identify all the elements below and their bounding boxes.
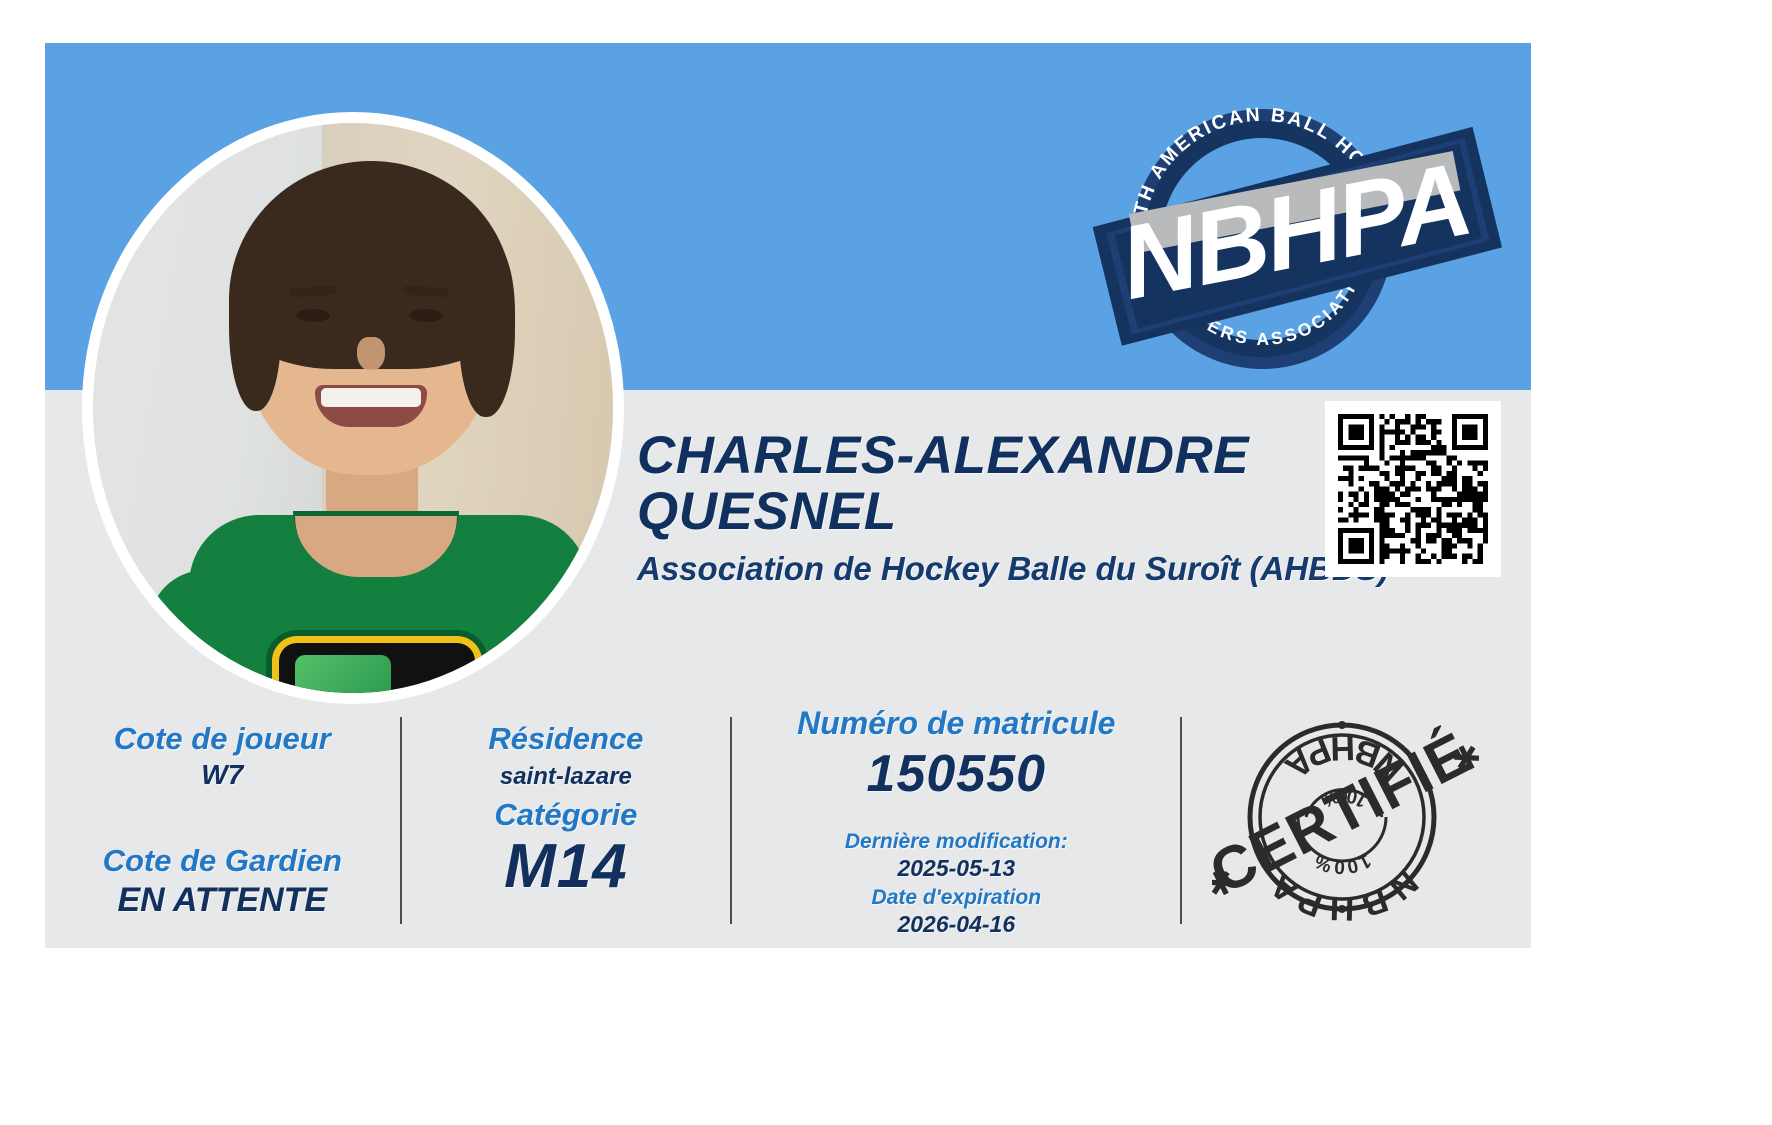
last-modified-value: 2025-05-13 [897,855,1015,882]
card-details-row: Cote de joueur W7 Cote de Gardien EN ATT… [45,683,1531,948]
matricule-column: Numéro de matricule 150550 Dernière modi… [732,683,1180,948]
matricule-value: 150550 [867,744,1047,804]
certification-column: NBHPA NBHPA 100% 100% CERT [1182,683,1531,948]
last-modified-label: Dernière modification: [845,830,1068,854]
player-photo: OVALTE [93,123,613,693]
ratings-column: Cote de joueur W7 Cote de Gardien EN ATT… [45,683,400,948]
category-label: Catégorie [494,797,637,833]
expiry-value: 2026-04-16 [897,911,1015,938]
nbhpa-crest-icon: NORTH AMERICAN BALL HOCKEY PLAYERS ASSOC… [1079,71,1509,371]
qr-code[interactable] [1325,401,1501,577]
photo-hair-left [229,243,281,411]
expiry-label: Date d'expiration [872,886,1042,910]
photo-eye-left [296,309,330,322]
photo-nose [357,337,385,371]
category-value: M14 [504,831,628,902]
membership-card: OVALTE NORTH AMERICAN BALL HOCKEY PLAYER… [45,43,1531,948]
goalie-rating-label: Cote de Gardien [103,843,342,879]
photo-jersey-shoulder-right [478,563,613,693]
residence-column: Résidence saint-lazare Catégorie M14 [402,683,731,948]
player-rating-label: Cote de joueur [114,721,331,757]
matricule-label: Numéro de matricule [797,705,1115,742]
photo-teeth [321,388,421,407]
photo-hair-right [459,243,515,417]
player-rating-value: W7 [201,759,243,791]
goalie-rating-value: EN ATTENTE [117,881,327,920]
residence-label: Résidence [488,721,643,757]
photo-jersey-wordmark: OVALTE [243,683,533,693]
qr-code-image [1338,414,1488,564]
photo-eye-right [409,309,443,322]
residence-value: saint-lazare [500,763,632,791]
certified-stamp-icon: NBHPA NBHPA 100% 100% CERT [1212,691,1502,941]
photo-mouth [315,385,427,427]
